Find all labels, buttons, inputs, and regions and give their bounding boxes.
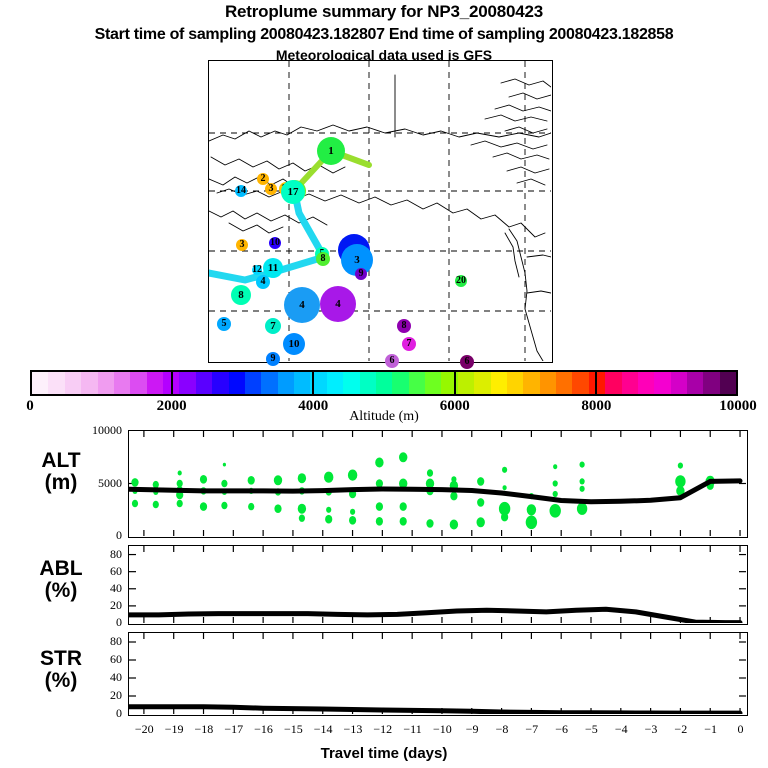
x-tick-label: 0 bbox=[720, 722, 760, 737]
colorbar-swatch bbox=[212, 372, 228, 394]
map-marker[interactable]: 1 bbox=[317, 137, 345, 165]
alt-label-line1: ALT bbox=[6, 450, 116, 472]
altitude-point bbox=[427, 469, 433, 476]
y-tick-label: 0 bbox=[72, 528, 122, 543]
x-axis-title: Travel time (days) bbox=[0, 745, 768, 762]
altitude-point bbox=[298, 504, 306, 514]
colorbar-swatch bbox=[98, 372, 114, 394]
y-tick-label: 40 bbox=[72, 670, 122, 685]
map-marker-label: 17 bbox=[288, 187, 299, 198]
colorbar-swatch bbox=[130, 372, 146, 394]
altitude-point bbox=[376, 517, 383, 526]
map-marker-label: 4 bbox=[335, 299, 341, 310]
altitude-point bbox=[477, 517, 485, 527]
map-marker-label: 10 bbox=[289, 339, 300, 350]
map-marker-label: 8 bbox=[321, 254, 326, 264]
map-marker-label: 2 bbox=[261, 174, 266, 184]
map-marker[interactable]: 4 bbox=[320, 286, 356, 322]
map-marker[interactable]: 12 bbox=[252, 265, 262, 275]
altitude-point bbox=[177, 480, 183, 487]
map-marker[interactable]: 8 bbox=[397, 319, 411, 333]
colorbar-swatch bbox=[458, 372, 474, 394]
y-tick-label: 80 bbox=[72, 634, 122, 649]
colorbar-swatch bbox=[376, 372, 392, 394]
colorbar-swatch bbox=[687, 372, 703, 394]
map-marker[interactable]: 3 bbox=[265, 183, 277, 195]
altitude-point bbox=[526, 516, 537, 530]
altitude-point bbox=[325, 515, 332, 524]
map-marker[interactable]: 4 bbox=[256, 275, 270, 289]
map-marker-label: 6 bbox=[465, 357, 470, 367]
altitude-plot[interactable] bbox=[128, 430, 748, 538]
altitude-point bbox=[200, 502, 207, 511]
colorbar-swatch bbox=[81, 372, 97, 394]
colorbar-separator bbox=[595, 370, 597, 396]
altitude-point bbox=[580, 462, 585, 468]
colorbar-swatch bbox=[294, 372, 310, 394]
colorbar-swatch bbox=[65, 372, 81, 394]
colorbar-swatch bbox=[360, 372, 376, 394]
colorbar-swatch bbox=[474, 372, 490, 394]
colorbar-swatch bbox=[409, 372, 425, 394]
colorbar-swatch bbox=[343, 372, 359, 394]
map-marker[interactable]: 7 bbox=[265, 318, 281, 334]
map-marker[interactable]: 4 bbox=[284, 287, 320, 323]
map-marker-label: 7 bbox=[270, 321, 276, 332]
map-graphics bbox=[209, 61, 551, 361]
colorbar-separator bbox=[312, 370, 314, 396]
colorbar-swatch bbox=[392, 372, 408, 394]
map-marker[interactable]: 6 bbox=[460, 355, 474, 369]
map-marker[interactable]: 3 bbox=[236, 239, 248, 251]
map-marker-label: 7 bbox=[407, 339, 412, 349]
map-marker[interactable]: 8 bbox=[316, 252, 330, 266]
y-tick-label: 60 bbox=[72, 652, 122, 667]
altitude-point bbox=[450, 520, 458, 530]
retroplume-map[interactable]: 1231315161714310231211584984457109876620 bbox=[208, 60, 553, 363]
altitude-point bbox=[153, 481, 159, 488]
altitude-point bbox=[577, 503, 587, 515]
altitude-point bbox=[299, 515, 305, 522]
map-marker[interactable]: 7 bbox=[402, 337, 416, 351]
altitude-point bbox=[375, 458, 383, 468]
colorbar-swatch bbox=[229, 372, 245, 394]
map-marker-label: 12 bbox=[252, 265, 262, 275]
colorbar-separator bbox=[454, 370, 456, 396]
colorbar-swatch bbox=[261, 372, 277, 394]
page-title: Retroplume summary for NP3_20080423 bbox=[0, 2, 768, 22]
colorbar-swatch bbox=[32, 372, 48, 394]
colorbar-swatch bbox=[278, 372, 294, 394]
map-marker[interactable]: 8 bbox=[231, 285, 251, 305]
altitude-point bbox=[553, 491, 558, 497]
altitude-point bbox=[400, 502, 407, 511]
colorbar-swatch bbox=[605, 372, 621, 394]
colorbar-swatch bbox=[327, 372, 343, 394]
map-marker-label: 8 bbox=[238, 290, 244, 301]
y-tick-label: 80 bbox=[72, 547, 122, 562]
map-marker-label: 4 bbox=[299, 300, 305, 311]
map-marker-label: 11 bbox=[268, 263, 278, 274]
altitude-point bbox=[580, 486, 585, 492]
colorbar-swatch bbox=[425, 372, 441, 394]
colorbar-swatch bbox=[572, 372, 588, 394]
altitude-point bbox=[248, 503, 254, 510]
str-plot[interactable] bbox=[128, 632, 748, 716]
map-marker-label: 3 bbox=[240, 240, 245, 250]
altitude-point bbox=[550, 504, 561, 518]
colorbar-swatch bbox=[523, 372, 539, 394]
str-graphics bbox=[129, 633, 746, 714]
map-marker-label: 5 bbox=[222, 319, 227, 329]
altitude-point bbox=[350, 509, 355, 515]
map-marker-label: 9 bbox=[271, 354, 276, 364]
y-tick-label: 20 bbox=[72, 598, 122, 613]
altitude-point bbox=[477, 498, 484, 507]
y-tick-label: 20 bbox=[72, 688, 122, 703]
altitude-point bbox=[553, 480, 558, 486]
altitude-point bbox=[399, 452, 407, 462]
colorbar-swatch bbox=[179, 372, 195, 394]
map-marker-label: 10 bbox=[270, 238, 280, 248]
altitude-point bbox=[248, 476, 255, 485]
y-tick-label: 5000 bbox=[72, 476, 122, 491]
colorbar-swatch bbox=[638, 372, 654, 394]
abl-graphics bbox=[129, 546, 746, 623]
colorbar-swatch bbox=[245, 372, 261, 394]
map-marker-label: 3 bbox=[269, 184, 274, 194]
sampling-time-line: Start time of sampling 20080423.182807 E… bbox=[0, 26, 768, 44]
altitude-point bbox=[153, 501, 159, 508]
altitude-point bbox=[177, 500, 183, 507]
altitude-point bbox=[274, 475, 282, 485]
colorbar-swatch bbox=[671, 372, 687, 394]
altitude-point bbox=[178, 471, 182, 476]
altitude-point bbox=[274, 504, 281, 513]
altitude-point bbox=[298, 473, 306, 483]
altitude-point bbox=[675, 475, 685, 487]
colorbar-swatch bbox=[540, 372, 556, 394]
colorbar-swatch bbox=[507, 372, 523, 394]
altitude-colorbar bbox=[30, 370, 738, 396]
altitude-point bbox=[349, 516, 356, 525]
map-marker[interactable]: 6 bbox=[385, 354, 399, 368]
abl-plot[interactable] bbox=[128, 545, 748, 625]
alt-graphics bbox=[129, 431, 746, 536]
altitude-point bbox=[477, 477, 484, 486]
altitude-point bbox=[678, 463, 683, 469]
map-marker[interactable]: 9 bbox=[266, 352, 280, 366]
altitude-point bbox=[450, 492, 457, 501]
colorbar-swatch bbox=[703, 372, 719, 394]
map-marker-label: 3 bbox=[354, 255, 360, 266]
altitude-point bbox=[200, 475, 207, 484]
map-marker[interactable]: 20 bbox=[455, 275, 467, 287]
altitude-point bbox=[501, 513, 508, 522]
map-marker[interactable]: 14 bbox=[235, 185, 247, 197]
map-marker[interactable]: 5 bbox=[217, 317, 231, 331]
map-marker[interactable]: 10 bbox=[283, 333, 305, 355]
data-line bbox=[129, 481, 740, 502]
map-marker-label: 6 bbox=[390, 356, 395, 366]
map-marker-label: 14 bbox=[236, 186, 246, 196]
altitude-point bbox=[221, 502, 227, 509]
altitude-point bbox=[221, 480, 227, 487]
altitude-point bbox=[348, 470, 357, 481]
colorbar-swatch bbox=[114, 372, 130, 394]
map-marker-label: 20 bbox=[456, 276, 466, 286]
altitude-point bbox=[400, 517, 407, 526]
map-marker[interactable]: 17 bbox=[281, 180, 305, 204]
colorbar-swatch bbox=[48, 372, 64, 394]
y-tick-label: 0 bbox=[72, 615, 122, 630]
colorbar-swatch bbox=[556, 372, 572, 394]
y-tick-label: 10000 bbox=[72, 423, 122, 438]
map-marker-label: 1 bbox=[328, 146, 334, 157]
colorbar-swatch bbox=[491, 372, 507, 394]
altitude-point bbox=[131, 478, 138, 487]
y-tick-label: 0 bbox=[72, 706, 122, 721]
colorbar-swatch bbox=[196, 372, 212, 394]
altitude-point bbox=[326, 507, 331, 513]
y-tick-label: 40 bbox=[72, 581, 122, 596]
altitude-point bbox=[502, 467, 507, 473]
altitude-point bbox=[132, 500, 138, 507]
map-gridlines bbox=[209, 61, 551, 361]
colorbar-swatch bbox=[654, 372, 670, 394]
altitude-point bbox=[426, 519, 433, 528]
map-marker-label: 4 bbox=[261, 277, 266, 287]
map-marker[interactable]: 9 bbox=[355, 268, 367, 280]
altitude-point bbox=[553, 464, 557, 469]
altitude-point bbox=[580, 478, 585, 484]
altitude-point bbox=[324, 472, 333, 483]
altitude-point bbox=[527, 504, 536, 515]
map-marker-label: 8 bbox=[402, 321, 407, 331]
map-marker-label: 9 bbox=[359, 269, 364, 279]
map-marker[interactable]: 10 bbox=[269, 237, 281, 249]
colorbar-swatch bbox=[622, 372, 638, 394]
altitude-point bbox=[376, 502, 383, 511]
colorbar-swatch bbox=[147, 372, 163, 394]
colorbar-separator bbox=[171, 370, 173, 396]
altitude-point bbox=[223, 463, 226, 467]
data-line bbox=[129, 609, 740, 622]
data-line bbox=[129, 707, 740, 713]
y-tick-label: 60 bbox=[72, 564, 122, 579]
colorbar-swatch bbox=[720, 372, 736, 394]
altitude-point bbox=[503, 485, 507, 490]
